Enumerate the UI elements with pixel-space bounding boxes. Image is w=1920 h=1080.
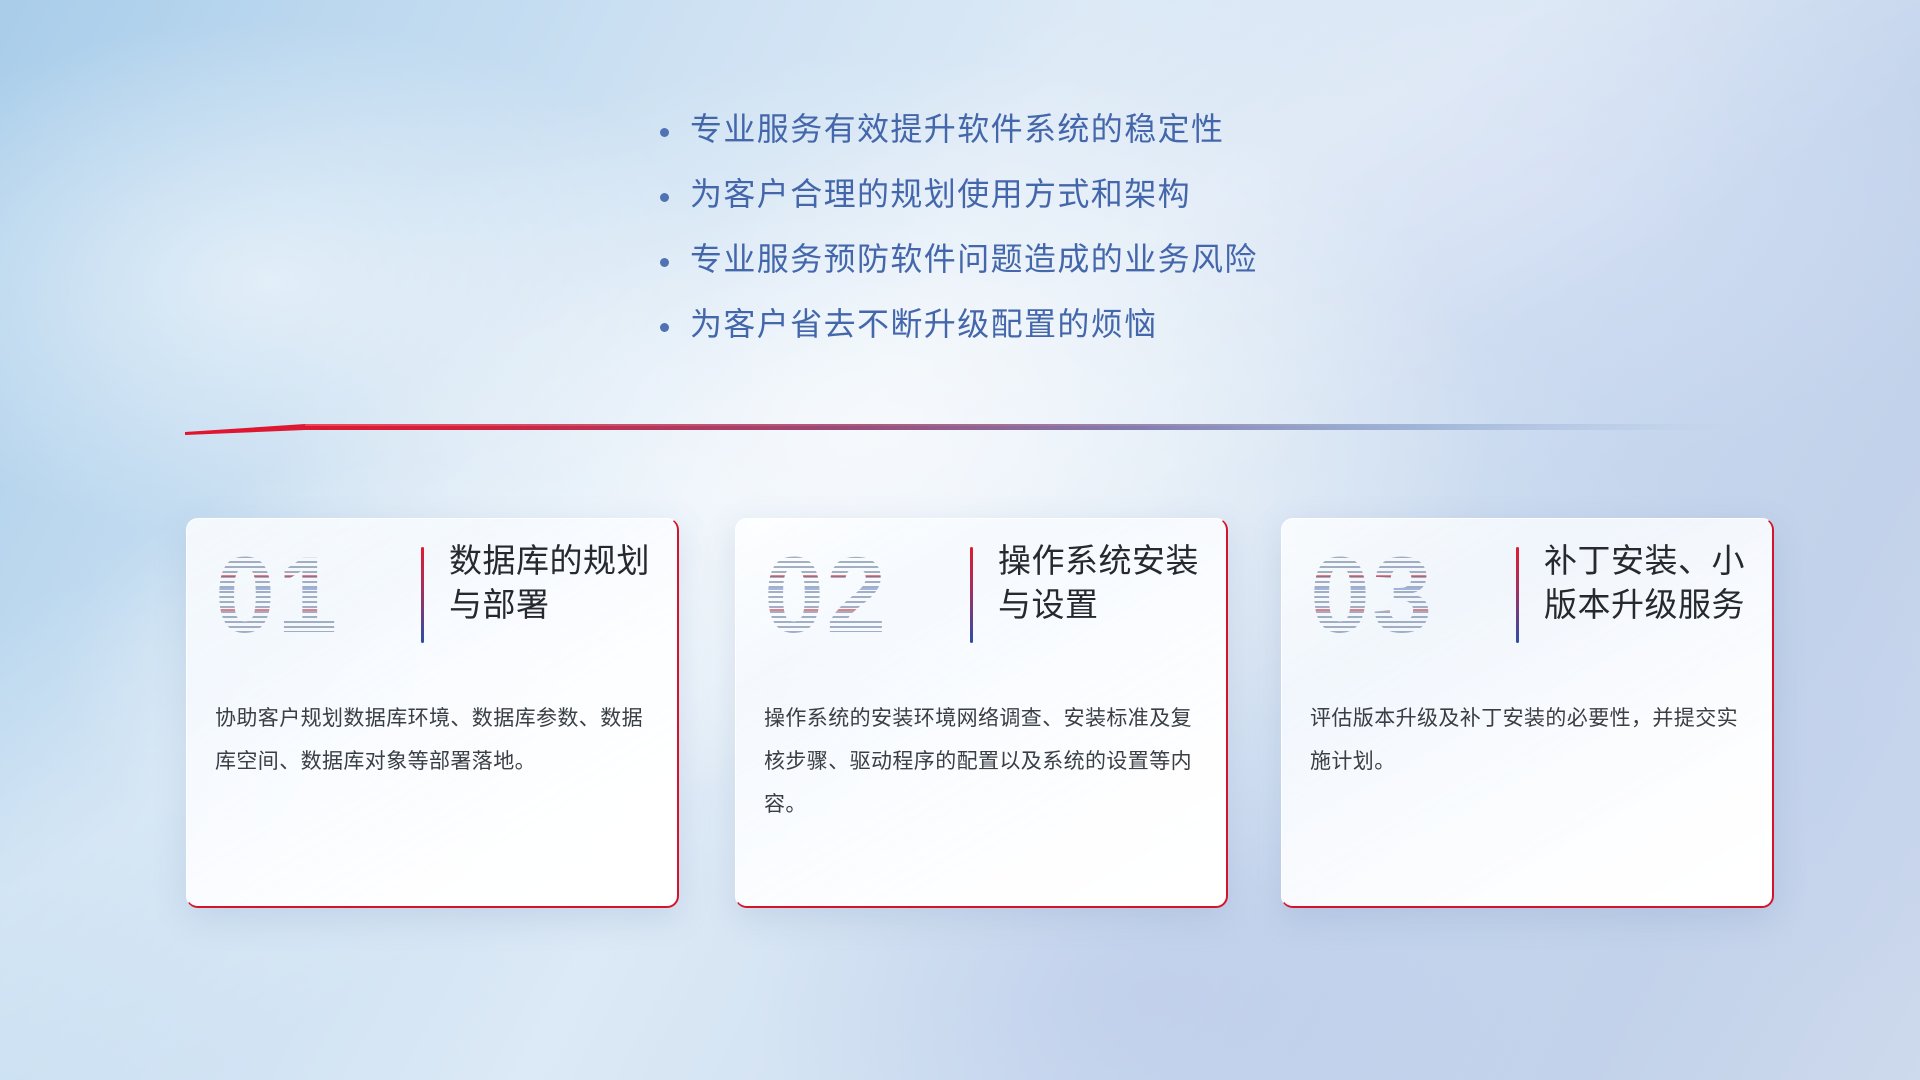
service-card[interactable]: 01 01 01 数据库的规划与部署 协助客户规划数据库环境、数据库参数、数据库… bbox=[186, 518, 679, 908]
card-body-text: 协助客户规划数据库环境、数据库参数、数据库空间、数据库对象等部署落地。 bbox=[215, 697, 655, 783]
bullet-dot-icon bbox=[660, 115, 690, 141]
card-number-blue-scanlines: 01 bbox=[215, 541, 339, 649]
list-item: 专业服务预防软件问题造成的业务风险 bbox=[660, 234, 1258, 299]
card-number-graphic: 03 03 03 bbox=[1282, 519, 1512, 669]
card-row: 01 01 01 数据库的规划与部署 协助客户规划数据库环境、数据库参数、数据库… bbox=[0, 518, 1920, 918]
bullet-text: 为客户省去不断升级配置的烦恼 bbox=[690, 299, 1158, 345]
service-card[interactable]: 02 02 02 操作系统安装与设置 操作系统的安装环境网络调查、安装标准及复核… bbox=[735, 518, 1228, 908]
bullet-dot-icon bbox=[660, 245, 690, 271]
card-header: 03 03 03 补丁安装、小版本升级服务 bbox=[1282, 519, 1772, 669]
slide-canvas: 专业服务有效提升软件系统的稳定性 为客户合理的规划使用方式和架构 专业服务预防软… bbox=[0, 0, 1920, 1080]
list-item: 为客户合理的规划使用方式和架构 bbox=[660, 169, 1258, 234]
title-accent-rule bbox=[970, 547, 973, 643]
title-accent-rule bbox=[421, 547, 424, 643]
bullet-dot-icon bbox=[660, 180, 690, 206]
card-number-blue-scanlines: 03 bbox=[1310, 541, 1434, 649]
service-card[interactable]: 03 03 03 补丁安装、小版本升级服务 评估版本升级及补丁安装的必要性，并提… bbox=[1281, 518, 1774, 908]
card-title: 补丁安装、小版本升级服务 bbox=[1544, 539, 1756, 627]
card-title: 数据库的规划与部署 bbox=[449, 539, 661, 627]
list-item: 专业服务有效提升软件系统的稳定性 bbox=[660, 104, 1258, 169]
list-item: 为客户省去不断升级配置的烦恼 bbox=[660, 299, 1258, 364]
card-title: 操作系统安装与设置 bbox=[998, 539, 1210, 627]
bullet-list: 专业服务有效提升软件系统的稳定性 为客户合理的规划使用方式和架构 专业服务预防软… bbox=[660, 104, 1258, 364]
bullet-text: 为客户合理的规划使用方式和架构 bbox=[690, 169, 1191, 215]
bullet-dot-icon bbox=[660, 310, 690, 336]
card-body-text: 操作系统的安装环境网络调查、安装标准及复核步骤、驱动程序的配置以及系统的设置等内… bbox=[764, 697, 1204, 826]
card-header: 01 01 01 数据库的规划与部署 bbox=[187, 519, 677, 669]
bullet-text: 专业服务有效提升软件系统的稳定性 bbox=[690, 104, 1224, 150]
card-body-text: 评估版本升级及补丁安装的必要性，并提交实施计划。 bbox=[1310, 697, 1750, 783]
card-header: 02 02 02 操作系统安装与设置 bbox=[736, 519, 1226, 669]
section-divider bbox=[185, 418, 1730, 440]
card-number-graphic: 01 01 01 bbox=[187, 519, 417, 669]
card-number-blue-scanlines: 02 bbox=[764, 541, 888, 649]
bullet-text: 专业服务预防软件问题造成的业务风险 bbox=[690, 234, 1258, 280]
card-number-graphic: 02 02 02 bbox=[736, 519, 966, 669]
title-accent-rule bbox=[1516, 547, 1519, 643]
